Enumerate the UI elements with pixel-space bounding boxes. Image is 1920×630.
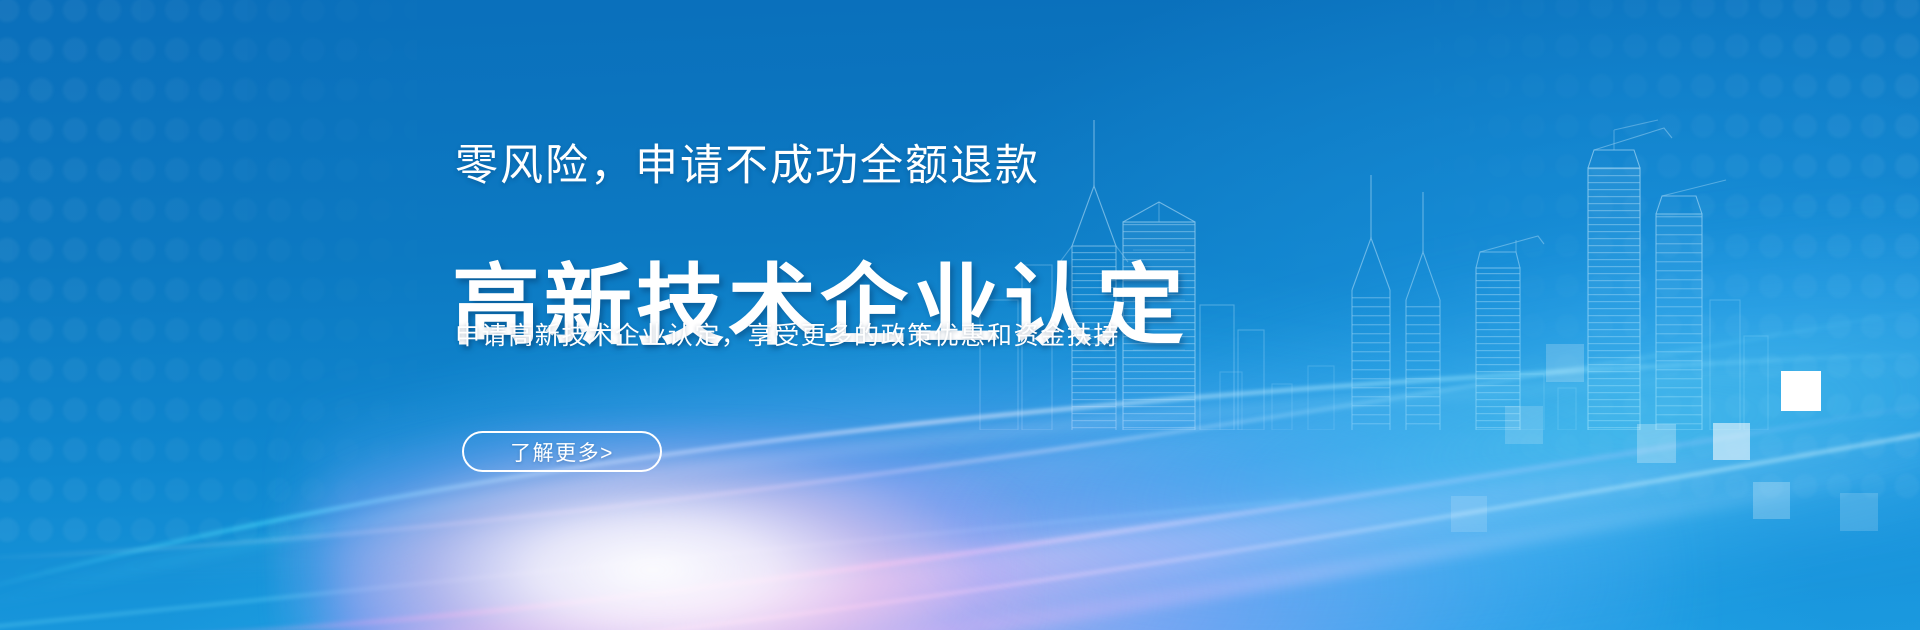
banner-content: 零风险，申请不成功全额退款 高新技术企业认定 申请高新技术企业认定，享受更多的政… (0, 0, 1920, 630)
promo-banner: 零风险，申请不成功全额退款 高新技术企业认定 申请高新技术企业认定，享受更多的政… (0, 0, 1920, 630)
banner-eyebrow: 零风险，申请不成功全额退款 (455, 142, 1040, 191)
banner-subline: 申请高新技术企业认定，享受更多的政策优惠和资金扶持 (455, 320, 1120, 353)
learn-more-button[interactable]: 了解更多> (462, 431, 662, 472)
